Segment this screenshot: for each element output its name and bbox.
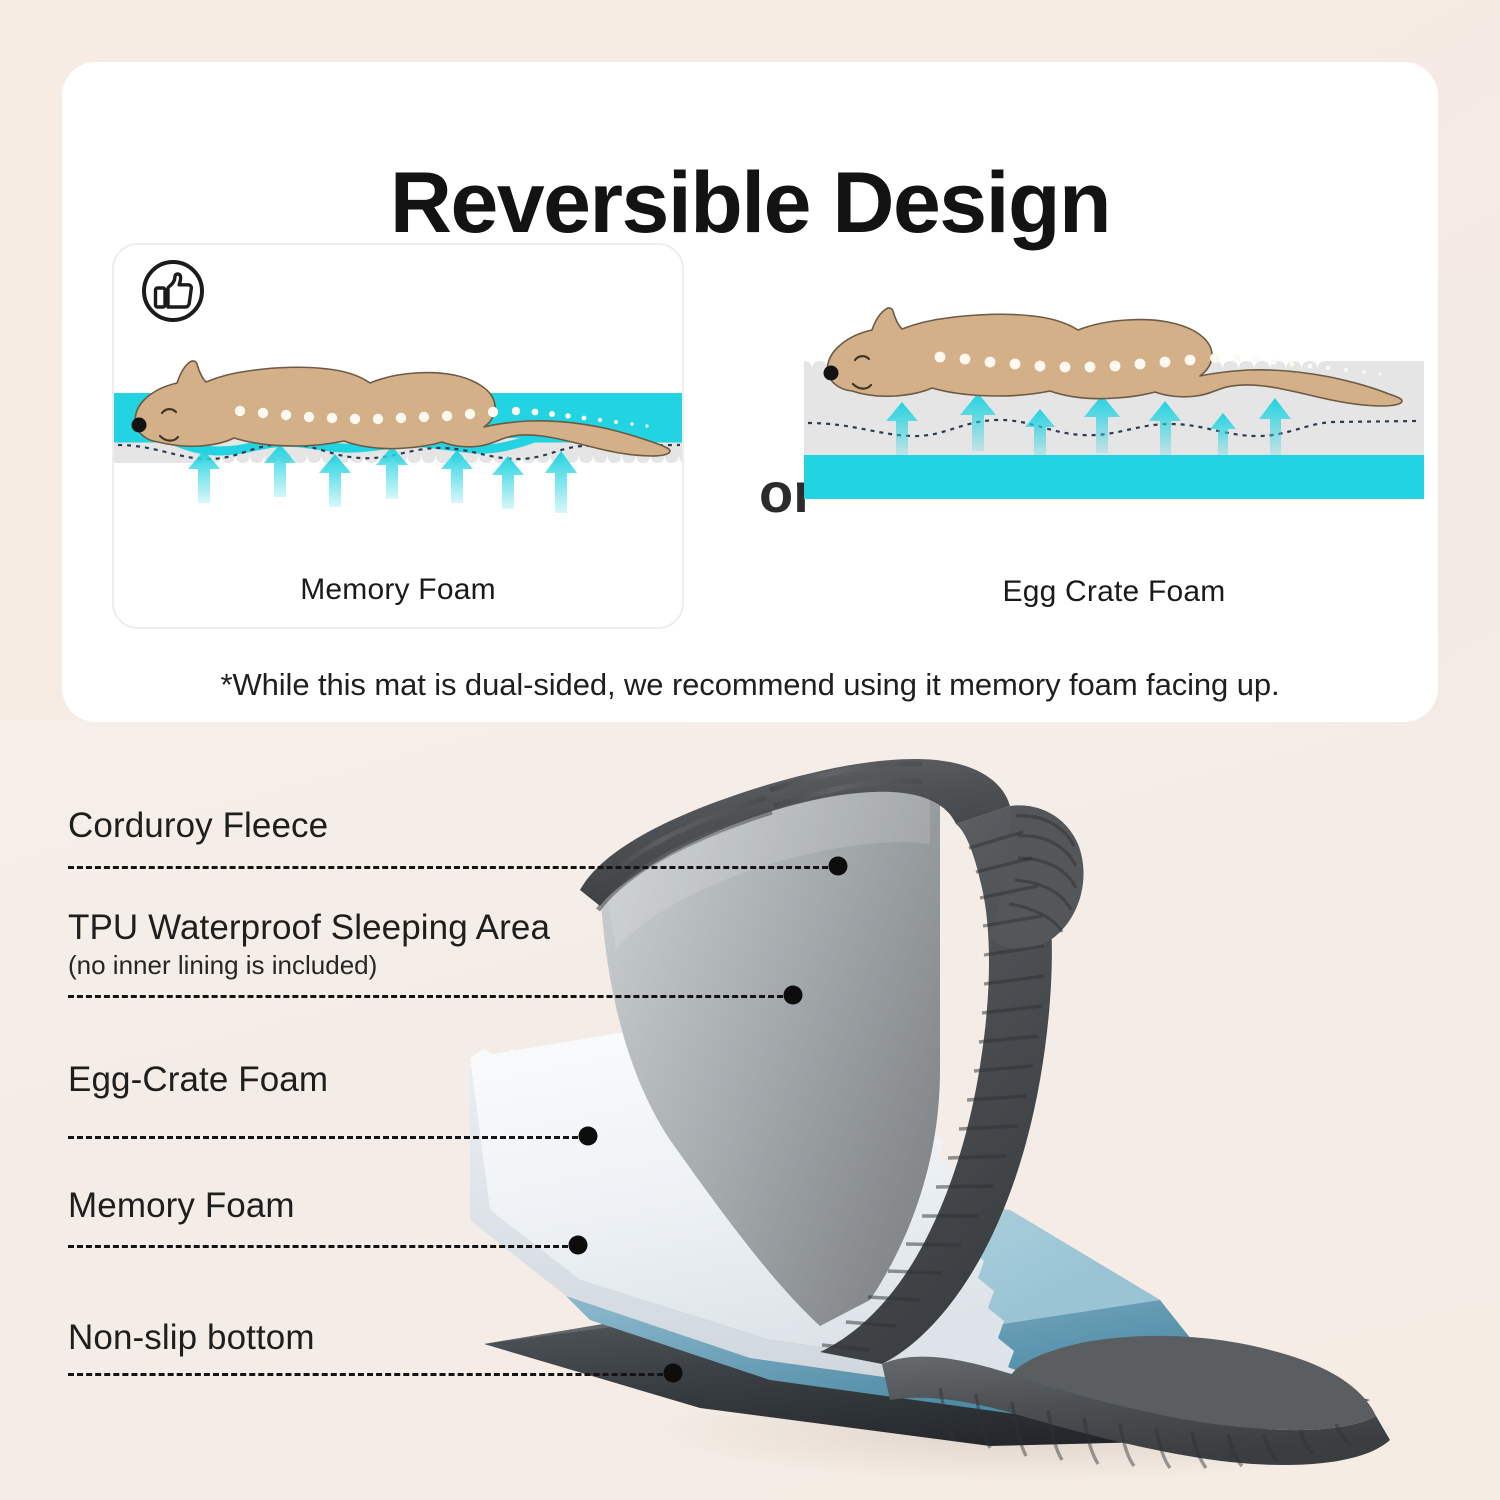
callout-title: Non-slip bottom <box>68 1318 315 1358</box>
page-title: Reversible Design <box>62 154 1438 253</box>
memory-foam-panel: Memory Foam <box>112 243 684 629</box>
leader-line-non-slip-bottom <box>68 1373 663 1376</box>
footnote-text: *While this mat is dual-sided, we recomm… <box>62 667 1438 703</box>
leader-dot-non-slip-bottom <box>664 1364 683 1383</box>
callout-non-slip-bottom: Non-slip bottom <box>68 1318 315 1358</box>
leader-dot-tpu-sleeping-area <box>784 986 803 1005</box>
callout-memory-foam: Memory Foam <box>68 1186 295 1226</box>
leader-line-corduroy-fleece <box>68 866 828 869</box>
leader-line-egg-crate-foam <box>68 1136 578 1139</box>
leader-dot-memory-foam <box>569 1236 588 1255</box>
callout-corduroy-fleece: Corduroy Fleece <box>68 806 328 846</box>
callout-title: TPU Waterproof Sleeping Area <box>68 908 550 948</box>
leader-line-memory-foam <box>68 1245 568 1248</box>
dog-nose <box>132 418 147 433</box>
callout-title: Egg-Crate Foam <box>68 1060 328 1100</box>
reversible-design-card: Reversible Design <box>62 62 1438 722</box>
memory-foam-caption: Memory Foam <box>114 573 682 607</box>
memory-foam-layer <box>804 455 1424 499</box>
memory-foam-illustration <box>114 245 684 629</box>
leader-dot-egg-crate-foam <box>579 1127 598 1146</box>
egg-crate-caption: Egg Crate Foam <box>804 575 1424 609</box>
callout-egg-crate-foam: Egg-Crate Foam <box>68 1060 328 1100</box>
egg-crate-illustration <box>804 243 1424 629</box>
product-layers-illustration <box>470 740 1490 1500</box>
callout-title: Corduroy Fleece <box>68 806 328 846</box>
leader-dot-corduroy-fleece <box>829 857 848 876</box>
callout-subtitle: (no inner lining is included) <box>68 950 550 981</box>
callout-tpu-sleeping-area: TPU Waterproof Sleeping Area (no inner l… <box>68 908 550 981</box>
dog-illustration-right <box>824 308 1403 406</box>
dog-nose <box>824 366 839 381</box>
leader-line-tpu-sleeping-area <box>68 995 783 998</box>
egg-crate-foam-panel: Egg Crate Foam <box>804 243 1424 629</box>
callout-title: Memory Foam <box>68 1186 295 1226</box>
